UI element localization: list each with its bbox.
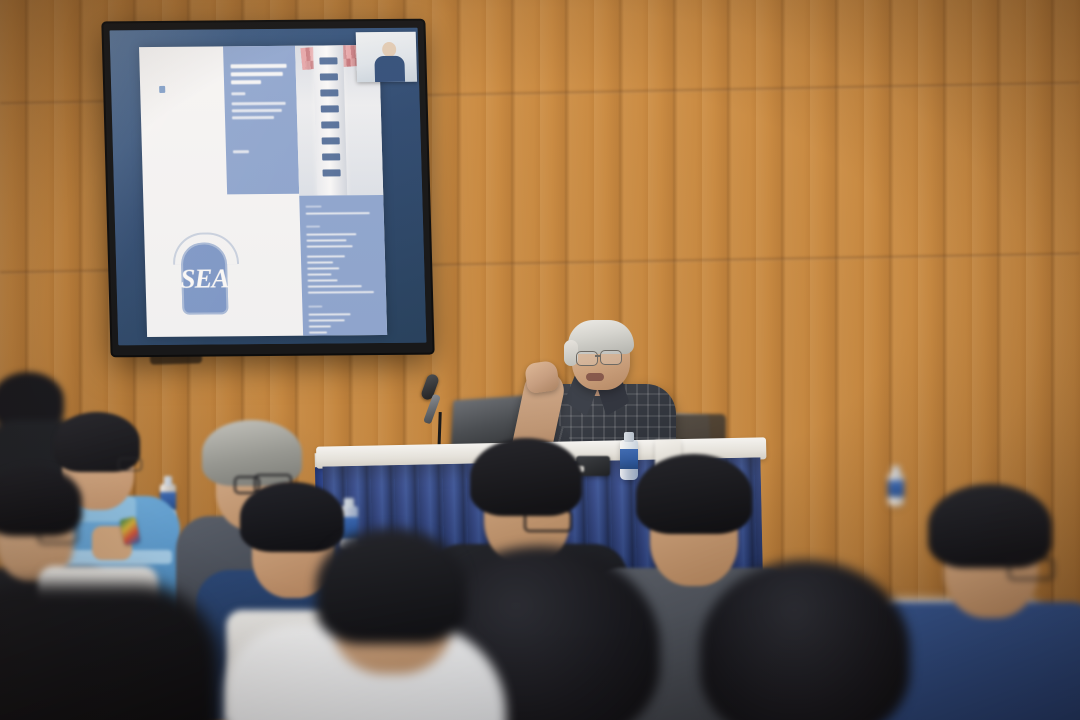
glasses-lens-right-icon	[600, 350, 622, 365]
hair	[928, 484, 1052, 568]
hair	[316, 528, 466, 644]
bottle-cap	[892, 466, 900, 476]
conference-room-photo: Recommended	[0, 0, 1080, 720]
sea-logo-text: SEA	[180, 242, 228, 314]
remote-participant-body	[374, 56, 405, 82]
video-call-indicator-icon	[159, 86, 165, 93]
wall-display[interactable]: Recommended	[103, 21, 432, 356]
remote-participant-head	[382, 42, 396, 57]
video-call-thumbnail[interactable]	[356, 32, 417, 83]
hair	[470, 438, 582, 516]
hair	[240, 482, 344, 552]
audience-member-foreground-right	[690, 560, 920, 720]
bottle-cap	[624, 432, 633, 442]
glasses-icon	[118, 458, 142, 471]
slide-title-panel: Recommended	[223, 46, 299, 195]
glasses-icon	[524, 510, 572, 532]
bottle-label	[888, 480, 904, 497]
glasses-icon	[38, 524, 78, 544]
presenter-raised-fist	[524, 360, 560, 394]
hair	[700, 560, 910, 720]
water-bottle[interactable]	[888, 466, 904, 506]
audience-member-foreground-white-shirt	[196, 568, 496, 720]
slide-credits-panel: Structural Engineers Association	[299, 195, 387, 336]
glasses-icon	[1008, 558, 1054, 580]
hair	[636, 454, 752, 534]
glasses-bridge-icon	[595, 355, 601, 357]
tower-structure	[313, 45, 347, 196]
sea-logo: SEA	[180, 242, 228, 314]
presentation-slide: Recommended	[139, 45, 387, 337]
shirt	[0, 584, 220, 720]
audience-member-foreground-shoulder	[0, 560, 220, 720]
glasses-lens-left-icon	[576, 351, 598, 366]
presenter-mouth	[586, 373, 604, 381]
display-panel: Recommended	[110, 28, 427, 346]
